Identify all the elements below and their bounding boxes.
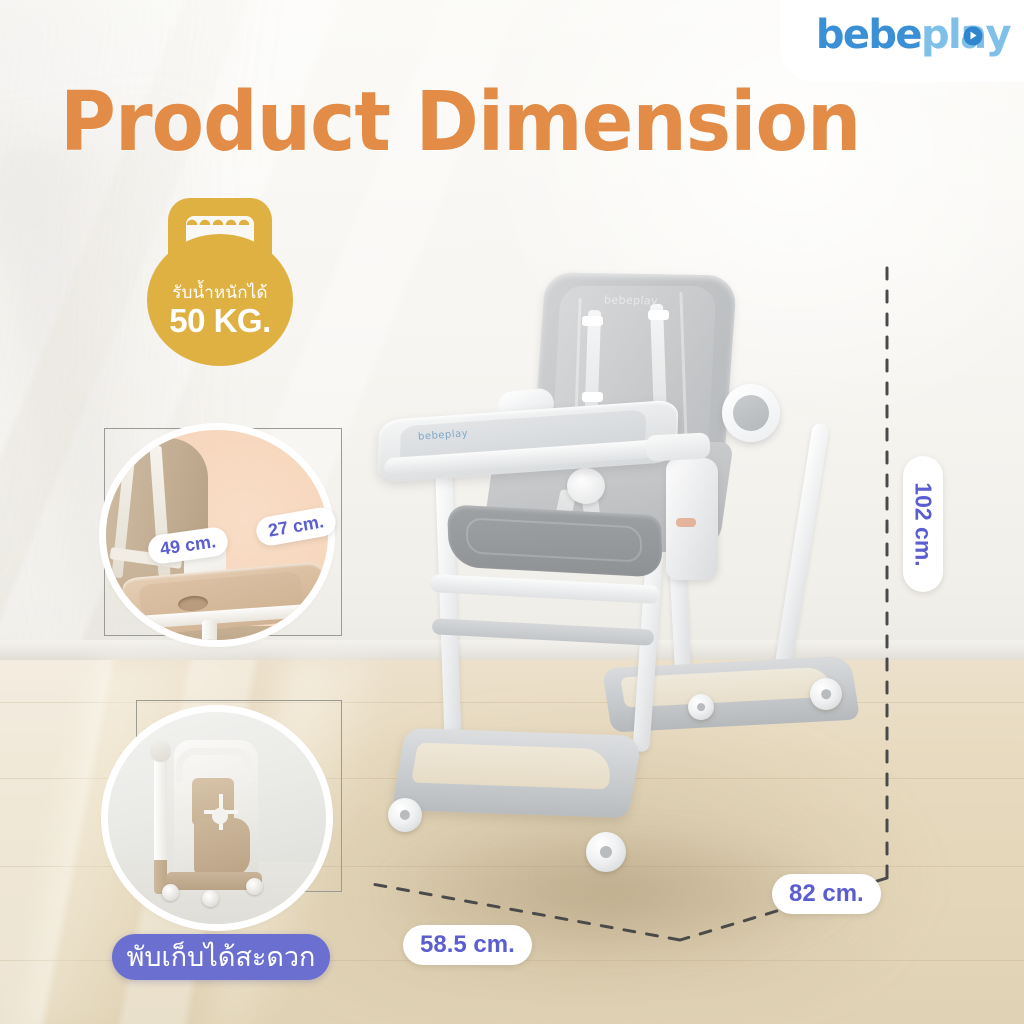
width-dimension-label: 58.5 cm.	[403, 925, 532, 965]
weight-capacity-badge: รับน้ำหนักได้ 50 KG.	[140, 198, 300, 366]
weight-caption: รับน้ำหนักได้	[172, 283, 267, 303]
logo-text-bebe: bebe	[816, 15, 921, 55]
chair-wheel-front-left	[388, 798, 422, 832]
chair-rear-leg-right	[771, 422, 830, 689]
harness-clip-left-top	[582, 316, 603, 326]
harness-clip-right-top	[648, 310, 669, 320]
kettlebell-grip-ridges	[186, 216, 254, 225]
depth-dimension-label: 82 cm.	[772, 874, 881, 914]
chair-wheel-rear-left	[688, 694, 714, 720]
inset-folded-photo	[108, 712, 326, 924]
chair-cross-rail-upper	[430, 574, 661, 604]
folded-chair-caption: พับเก็บได้สะดวก	[112, 934, 330, 980]
logo-text-y: y	[986, 15, 1010, 55]
chair-wheel-front-right	[586, 832, 626, 872]
page-title: Product Dimension	[60, 82, 916, 164]
chair-warning-sticker	[676, 518, 696, 527]
chair-tray-arm	[645, 432, 710, 461]
inset-folded-chair	[98, 700, 344, 930]
logo-letter-a-group: a	[960, 15, 985, 55]
infographic-canvas: bebeplay bebeplay Product Dimension bebe…	[0, 0, 1024, 1024]
logo-text-pl: pl	[921, 15, 960, 55]
height-dimension-text: 102 cm.	[910, 482, 937, 566]
brand-logo[interactable]: bebeplay	[816, 12, 1010, 58]
height-dimension-label: 102 cm.	[903, 456, 943, 592]
harness-buckle	[567, 468, 605, 504]
chair-base-front-cutout	[411, 743, 615, 790]
chair-cross-rail-lower	[432, 618, 655, 646]
chair-recline-knob-inner	[733, 395, 769, 431]
play-button-icon	[963, 26, 982, 45]
weight-value: 50 KG.	[169, 303, 271, 339]
harness-clip-left-bottom	[582, 392, 603, 402]
chair-wheel-rear-right	[810, 678, 842, 710]
product-high-chair: bebeplay bebeplay	[370, 262, 870, 952]
kettlebell-body-icon: รับน้ำหนักได้ 50 KG.	[147, 234, 293, 366]
